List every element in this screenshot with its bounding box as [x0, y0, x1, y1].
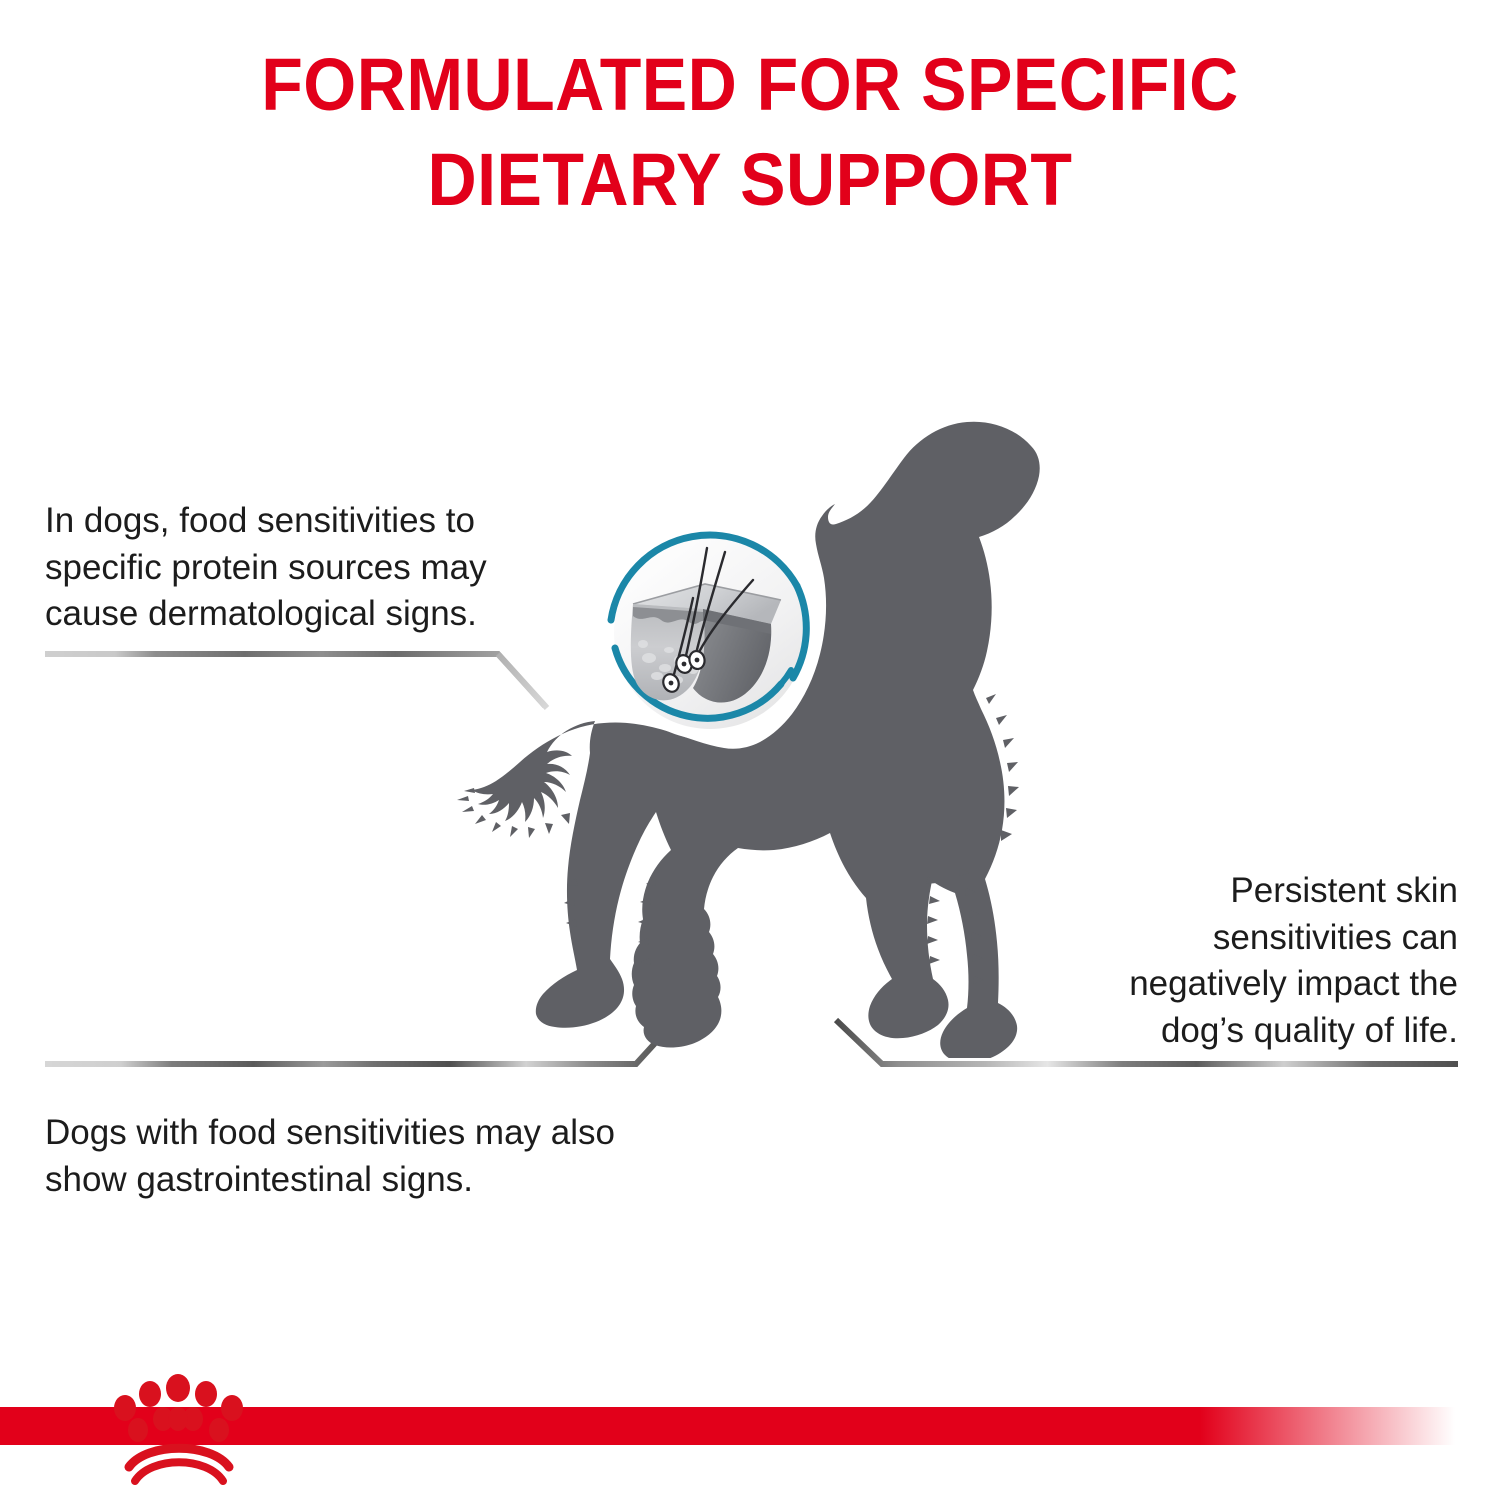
skin-cross-section-icon [585, 508, 835, 758]
callout-right-line-1: Persistent skin [1038, 868, 1458, 915]
page-title-line-2: DIETARY SUPPORT [60, 133, 1440, 228]
callout-bottom-left-line-2: show gastrointestinal signs. [45, 1157, 745, 1204]
callout-right: Persistent skin sensitivities can negati… [1038, 868, 1458, 1054]
callout-top-left-line-2: specific protein sources may [45, 545, 590, 592]
page-title: FORMULATED FOR SPECIFIC DIETARY SUPPORT [60, 38, 1440, 227]
callout-right-line-4: dog’s quality of life. [1038, 1008, 1458, 1055]
callout-right-line-3: negatively impact the [1038, 961, 1458, 1008]
page-title-line-1: FORMULATED FOR SPECIFIC [60, 38, 1440, 133]
callout-top-left: In dogs, food sensitivities to specific … [45, 498, 590, 638]
infographic-canvas: FORMULATED FOR SPECIFIC DIETARY SUPPORT [0, 0, 1500, 1500]
callout-top-left-line-1: In dogs, food sensitivities to [45, 498, 590, 545]
callout-top-left-line-3: cause dermatological signs. [45, 591, 590, 638]
royal-canin-crown-logo [105, 1372, 255, 1490]
callout-bottom-left: Dogs with food sensitivities may also sh… [45, 1110, 745, 1203]
callout-right-line-2: sensitivities can [1038, 915, 1458, 962]
callout-bottom-left-line-1: Dogs with food sensitivities may also [45, 1110, 745, 1157]
